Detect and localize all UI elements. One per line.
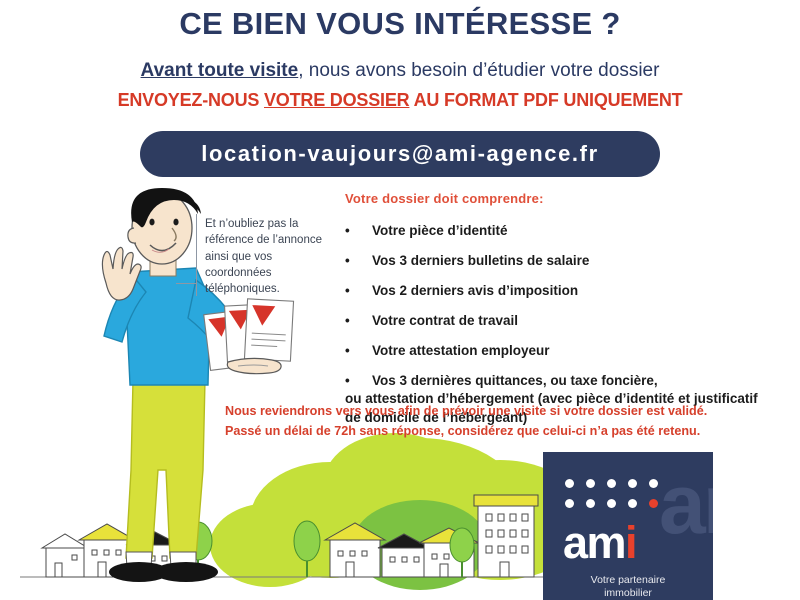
logo-dot-accent	[649, 499, 658, 508]
building-right	[474, 495, 538, 577]
pdf-requirement-line: ENVOYEZ-NOUS VOTRE DOSSIER AU FORMAT PDF…	[0, 90, 800, 111]
closing-line-1: Nous reviendrons vers vous afin de prévo…	[225, 402, 785, 422]
logo-dot	[586, 479, 595, 488]
bullet-icon: •	[345, 252, 350, 270]
logo-tagline: Votre partenaire immobilier	[543, 574, 713, 600]
bullet-icon: •	[345, 222, 350, 240]
logo-dot	[586, 499, 595, 508]
logo-dot	[607, 499, 616, 508]
logo-dot	[628, 499, 637, 508]
list-item-label: Vos 3 derniers bulletins de salaire	[345, 252, 765, 270]
logo-dot	[565, 479, 574, 488]
dossier-heading: Votre dossier doit comprendre:	[345, 191, 544, 206]
logo-tagline-line-1: Votre partenaire	[543, 574, 713, 587]
list-item: • Vos 3 derniers bulletins de salaire	[345, 252, 765, 270]
logo-wordmark-am: am	[563, 517, 625, 568]
logo-tagline-line-2: immobilier	[543, 587, 713, 600]
list-item-label: Votre pièce d’identité	[345, 222, 765, 240]
pdf-line-underlined: VOTRE DOSSIER	[264, 90, 409, 110]
list-item: • Votre contrat de travail	[345, 312, 765, 330]
reminder-note: Et n’oubliez pas la référence de l’annon…	[205, 216, 337, 298]
poster-root: CE BIEN VOUS INTÉRESSE ? Avant toute vis…	[0, 0, 800, 600]
list-item: • Votre attestation employeur	[345, 342, 765, 360]
bullet-icon: •	[345, 282, 350, 300]
list-item: • Vos 2 derniers avis d’imposition	[345, 282, 765, 300]
closing-line-2: Passé un délai de 72h sans réponse, cons…	[225, 422, 785, 442]
subtitle-line: Avant toute visite, nous avons besoin d’…	[0, 60, 800, 82]
email-address: location-vaujours@ami-agence.fr	[201, 141, 598, 167]
logo-dot	[649, 479, 658, 488]
subtitle-emphasis: Avant toute visite	[141, 60, 299, 81]
closing-message: Nous reviendrons vers vous afin de prévo…	[225, 402, 785, 441]
subtitle-rest: , nous avons besoin d’étudier votre doss…	[298, 60, 659, 81]
logo-wordmark-i: i	[625, 517, 636, 568]
logo-dot-row-bottom	[565, 499, 669, 508]
page-title: CE BIEN VOUS INTÉRESSE ?	[0, 6, 800, 42]
logo-dot	[607, 479, 616, 488]
pdf-line-prefix: ENVOYEZ-NOUS	[118, 90, 264, 110]
note-pointer-line	[176, 283, 197, 284]
list-item-label: Votre attestation employeur	[345, 342, 765, 360]
logo-dot	[628, 479, 637, 488]
list-item-label: Vos 3 dernières quittances, ou taxe fonc…	[345, 372, 765, 390]
list-item-label: Vos 2 derniers avis d’imposition	[345, 282, 765, 300]
list-item-label: Votre contrat de travail	[345, 312, 765, 330]
logo-dot	[565, 499, 574, 508]
email-banner[interactable]: location-vaujours@ami-agence.fr	[140, 131, 660, 177]
ami-logo: ami ami Votre partenaire immobilier	[543, 452, 713, 600]
logo-dot-row-top	[565, 479, 669, 488]
pdf-line-suffix: AU FORMAT PDF UNIQUEMENT	[409, 90, 682, 110]
list-item: • Votre pièce d’identité	[345, 222, 765, 240]
bullet-icon: •	[345, 372, 350, 390]
bullet-icon: •	[345, 342, 350, 360]
logo-wordmark: ami	[563, 520, 636, 565]
logo-dot-grid	[565, 479, 669, 519]
bullet-icon: •	[345, 312, 350, 330]
open-hand	[227, 358, 281, 373]
